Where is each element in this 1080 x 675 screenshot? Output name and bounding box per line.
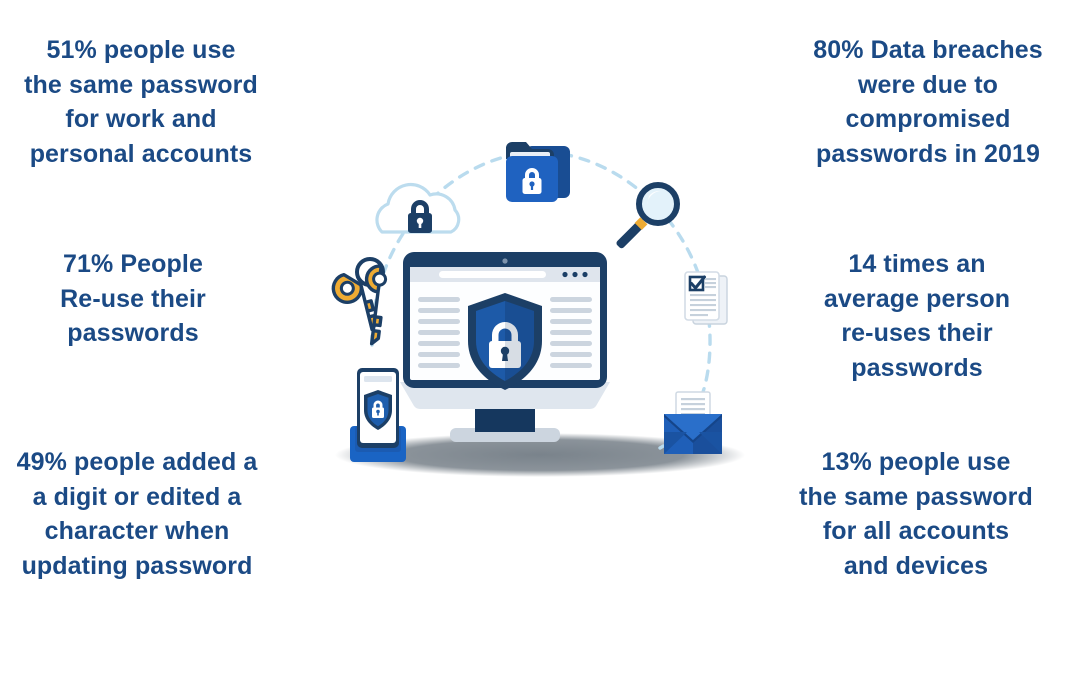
keys-icon	[330, 259, 387, 344]
stat-block-middle-right: 14 times an average person re-uses their…	[804, 247, 1030, 385]
checklist-icon	[685, 272, 727, 324]
stat-block-bottom-right: 13% people use the same password for all…	[794, 445, 1038, 583]
stat-block-top-left: 51% people use the same password for wor…	[8, 33, 274, 171]
envelope-icon	[664, 392, 722, 454]
stat-block-middle-left: 71% People Re-use their passwords	[14, 247, 252, 351]
browser-url-bar	[439, 271, 546, 278]
cloud-lock-icon	[377, 185, 459, 233]
monitor-camera	[502, 258, 507, 263]
stat-block-bottom-left: 49% people added a a digit or edited a c…	[4, 445, 270, 583]
smartphone-shield-icon	[350, 368, 406, 462]
stat-block-top-right: 80% Data breaches were due to compromise…	[790, 33, 1066, 171]
folder-lock-icon	[506, 142, 570, 202]
infographic-canvas: 51% people use the same password for wor…	[0, 0, 1080, 675]
desktop-monitor	[400, 252, 610, 442]
magnifier-icon	[615, 185, 677, 250]
password-security-illustration	[300, 110, 780, 490]
browser-dots	[562, 272, 587, 277]
